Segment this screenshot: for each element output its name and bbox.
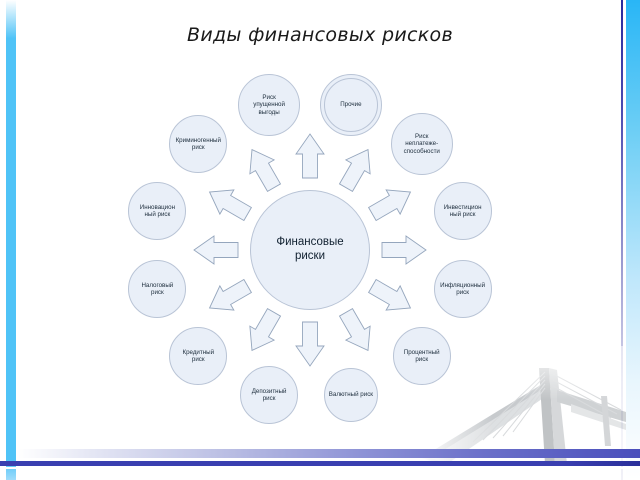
diagram-node-label: Криминогенный риск bbox=[176, 137, 221, 152]
diagram-node-label: Депозитный риск bbox=[252, 388, 287, 403]
ring-arrow-12 bbox=[240, 143, 286, 195]
right-edge-accent-bar bbox=[626, 0, 640, 480]
diagram-node-label: Инновацион ный риск bbox=[140, 204, 175, 219]
diagram-node-label: Риск упущенной выгоды bbox=[253, 94, 285, 116]
ring-arrow-7 bbox=[296, 322, 324, 366]
diagram-node-4: Инфляционный риск bbox=[434, 260, 492, 318]
left-edge-accent-bar bbox=[6, 0, 16, 480]
ring-arrow-10 bbox=[194, 236, 238, 264]
page-title: Виды финансовых рисков bbox=[0, 24, 640, 46]
financial-risks-diagram: Финансовые риски Финансовый устойчивости… bbox=[100, 55, 540, 445]
diagram-node-7: Депозитный риск bbox=[240, 366, 298, 424]
ring-arrow-8 bbox=[240, 305, 286, 357]
diagram-center-node: Финансовые риски bbox=[250, 190, 370, 310]
diagram-node-2: Риск неплатеже- способности bbox=[391, 113, 453, 175]
diagram-center-label: Финансовые риски bbox=[276, 236, 343, 263]
ring-arrow-9 bbox=[203, 274, 255, 320]
ring-arrow-4 bbox=[382, 236, 426, 264]
diagram-node-label: Валютный риск bbox=[329, 391, 373, 398]
ring-arrow-5 bbox=[365, 274, 417, 320]
diagram-node-3: Инвестицион ный риск bbox=[434, 182, 492, 240]
diagram-node-label: Инфляционный риск bbox=[440, 282, 485, 297]
diagram-node-11: Криминогенный риск bbox=[169, 115, 227, 173]
diagram-node-12: Риск упущенной выгоды bbox=[238, 74, 300, 136]
bottom-white-divider bbox=[0, 467, 640, 469]
diagram-node-5: Процентный риск bbox=[393, 327, 451, 385]
diagram-node-6: Валютный риск bbox=[324, 368, 378, 422]
diagram-node-9: Налоговый риск bbox=[128, 260, 186, 318]
ring-arrow-6 bbox=[334, 305, 380, 357]
diagram-node-label: Риск неплатеже- способности bbox=[404, 133, 440, 155]
bottom-blue-bar bbox=[0, 461, 640, 466]
diagram-node-label: Налоговый риск bbox=[141, 282, 173, 297]
ring-arrow-1 bbox=[296, 134, 324, 178]
diagram-node-label: Кредитный риск bbox=[182, 349, 214, 364]
slide-canvas: Виды финансовых рисков Финансовые риски … bbox=[0, 0, 640, 480]
diagram-node-label: Прочие bbox=[340, 101, 361, 108]
diagram-node-label: Инвестицион ный риск bbox=[444, 204, 482, 219]
diagram-node-label: Процентный риск bbox=[404, 349, 440, 364]
ring-arrow-2 bbox=[334, 143, 380, 195]
bottom-gradient-bar bbox=[18, 449, 640, 458]
diagram-node-8: Кредитный риск bbox=[169, 327, 227, 385]
ring-arrow-11 bbox=[203, 180, 255, 226]
ring-arrow-3 bbox=[365, 180, 417, 226]
diagram-node-13: Прочие bbox=[324, 78, 378, 132]
